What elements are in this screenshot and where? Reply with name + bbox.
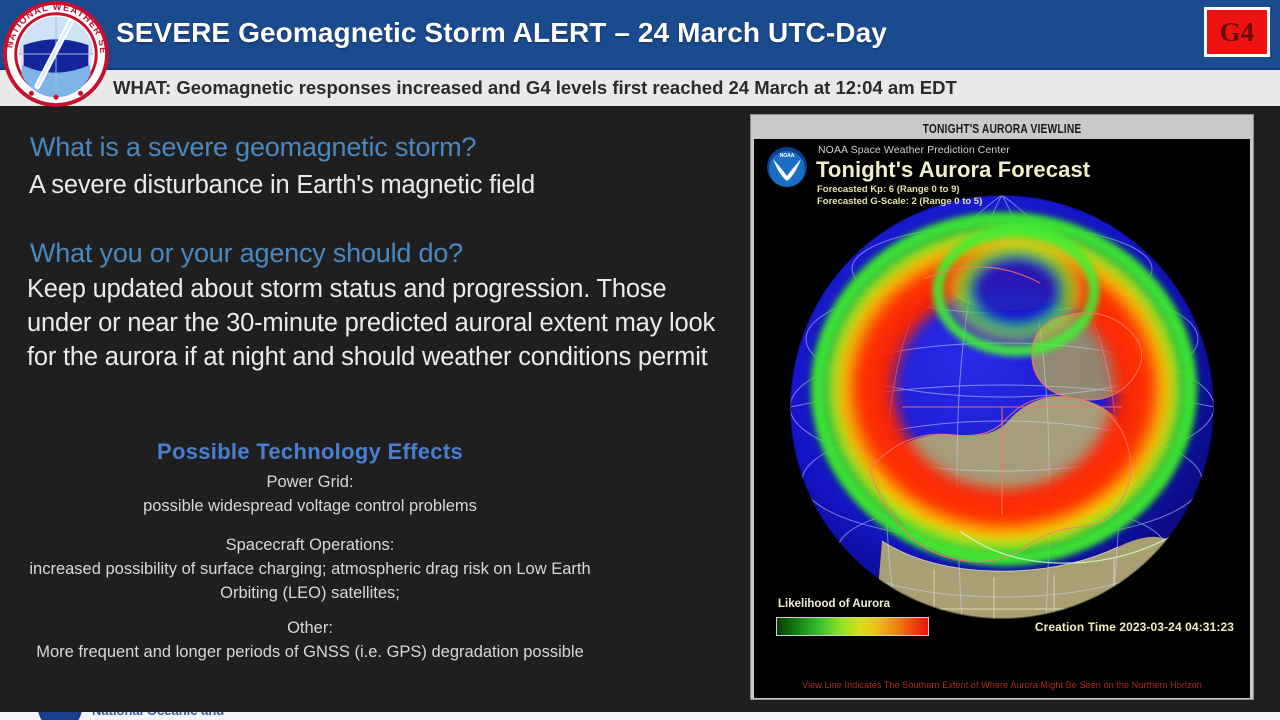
- alert-header-bar: SEVERE Geomagnetic Storm ALERT – 24 Marc…: [0, 0, 1280, 68]
- question-1-answer: A severe disturbance in Earth's magnetic…: [29, 168, 535, 202]
- technology-effects-title: Possible Technology Effects: [0, 439, 620, 465]
- footer-logo-icon: [38, 712, 82, 720]
- question-1-heading: What is a severe geomagnetic storm?: [30, 132, 476, 163]
- national-weather-service-logo: NATIONAL WEATHER SERVICE: [2, 0, 110, 110]
- creation-timestamp: Creation Time 2023-03-24 04:31:23: [1035, 620, 1234, 634]
- tech-effect-label: Other:: [0, 616, 620, 640]
- tech-effect-label: Spacecraft Operations:: [0, 533, 620, 557]
- tech-effect-power-grid: Power Grid: possible widespread voltage …: [0, 470, 620, 518]
- question-2-heading: What you or your agency should do?: [30, 238, 463, 269]
- noaa-agency-label: NOAA Space Weather Prediction Center: [818, 144, 1010, 156]
- tech-effect-detail: increased possibility of surface chargin…: [0, 557, 620, 605]
- what-banner: WHAT: Geomagnetic responses increased an…: [0, 68, 1280, 106]
- tech-effect-other: Other: More frequent and longer periods …: [0, 616, 620, 664]
- tech-effect-detail: possible widespread voltage control prob…: [0, 494, 620, 518]
- viewline-footnote: View Line Indicates The Southern Extent …: [754, 680, 1250, 690]
- aurora-forecast-title: Tonight's Aurora Forecast: [816, 157, 1090, 183]
- legend-title: Likelihood of Aurora: [778, 598, 890, 610]
- tech-effect-spacecraft: Spacecraft Operations: increased possibi…: [0, 533, 620, 605]
- svg-text:NOAA: NOAA: [780, 153, 795, 159]
- kp-index-line: Forecasted Kp: 6 (Range 0 to 9): [817, 184, 982, 196]
- aurora-map-canvas: NOAA NOAA Space Weather Prediction Cente…: [754, 139, 1250, 698]
- page-title: SEVERE Geomagnetic Storm ALERT – 24 Marc…: [116, 17, 887, 49]
- noaa-logo-icon: NOAA: [766, 146, 808, 188]
- footer-text: National Oceanic and: [92, 712, 224, 718]
- aurora-forecast-indices: Forecasted Kp: 6 (Range 0 to 9) Forecast…: [817, 184, 982, 208]
- what-banner-text: WHAT: Geomagnetic responses increased an…: [113, 77, 957, 99]
- aurora-globe-graphic: [754, 139, 1250, 698]
- aurora-panel-title: TONIGHT'S AURORA VIEWLINE: [799, 118, 1206, 139]
- g-scale-line: Forecasted G-Scale: 2 (Range 0 to 5): [817, 196, 982, 208]
- aurora-forecast-panel: TONIGHT'S AURORA VIEWLINE: [750, 114, 1254, 700]
- tech-effect-detail: More frequent and longer periods of GNSS…: [0, 640, 620, 664]
- status-badge: G4: [1204, 7, 1270, 57]
- slide-body: What is a severe geomagnetic storm? A se…: [0, 106, 1280, 720]
- question-2-answer: Keep updated about storm status and prog…: [27, 272, 727, 374]
- information-column: What is a severe geomagnetic storm? A se…: [0, 106, 740, 720]
- tech-effect-label: Power Grid:: [0, 470, 620, 494]
- footer-sliver: National Oceanic and: [0, 712, 1280, 720]
- likelihood-gradient-bar: [776, 617, 929, 636]
